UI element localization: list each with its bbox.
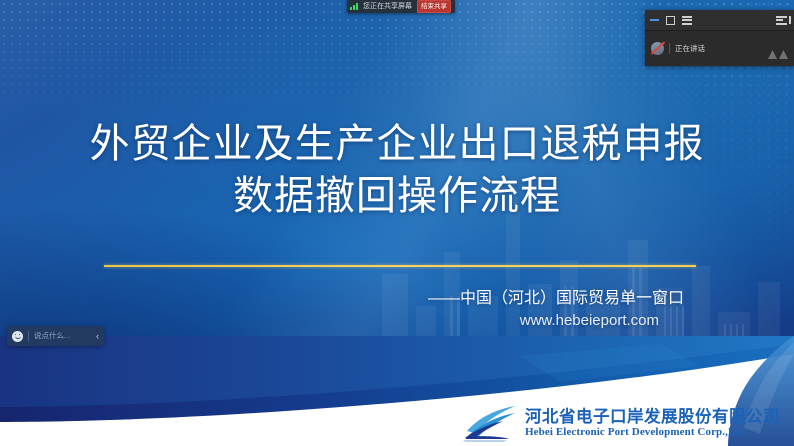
- subtitle-organization: ——中国（河北）国际贸易单一窗口: [0, 288, 684, 310]
- collapse-panel-icon[interactable]: [776, 16, 787, 25]
- chat-input-bar[interactable]: 说点什么... ‹: [7, 326, 104, 346]
- screen-share-status-bar: 您正在共享屏幕 结束共享: [347, 0, 455, 13]
- video-panel-titlebar: [645, 10, 794, 31]
- layout-list-icon[interactable]: [682, 16, 692, 25]
- company-brand: 河北省电子口岸发展股份有限公司 Hebei Electronic Port De…: [463, 404, 780, 442]
- participant-status-text: 正在讲话: [675, 44, 705, 54]
- slide-title-line-1: 外贸企业及生产企业出口退税申报: [0, 118, 794, 170]
- audio-waveform-icon: [768, 50, 788, 59]
- smiley-icon[interactable]: [12, 331, 23, 342]
- chevron-left-icon[interactable]: ‹: [96, 332, 99, 341]
- ship-wave-logo-icon: [463, 404, 517, 442]
- slide-subtitle-block: ——中国（河北）国际贸易单一窗口 www.hebeieport.com: [0, 288, 794, 331]
- brand-name-cn: 河北省电子口岸发展股份有限公司: [525, 408, 780, 426]
- divider: [669, 43, 670, 54]
- meeting-video-panel[interactable]: 正在讲话: [645, 10, 794, 66]
- participant-tile[interactable]: 正在讲话: [645, 31, 794, 66]
- presentation-slide-screen: 外贸企业及生产企业出口退税申报 数据撤回操作流程 ——中国（河北）国际贸易单一窗…: [0, 0, 794, 446]
- signal-bars-icon: [350, 3, 358, 10]
- maximize-icon[interactable]: [666, 16, 675, 25]
- brand-name-en: Hebei Electronic Port Development Corp.,…: [525, 426, 780, 438]
- slide-title-block: 外贸企业及生产企业出口退税申报 数据撤回操作流程: [0, 118, 794, 222]
- chat-input-placeholder[interactable]: 说点什么...: [34, 331, 91, 341]
- minimize-icon[interactable]: [650, 19, 659, 21]
- avatar-muted-icon: [651, 42, 664, 55]
- slide-title-line-2: 数据撤回操作流程: [0, 170, 794, 222]
- divider: [28, 331, 29, 342]
- gold-divider-rule: [104, 265, 696, 267]
- share-status-text: 您正在共享屏幕: [363, 2, 412, 11]
- stop-sharing-button[interactable]: 结束共享: [417, 0, 451, 13]
